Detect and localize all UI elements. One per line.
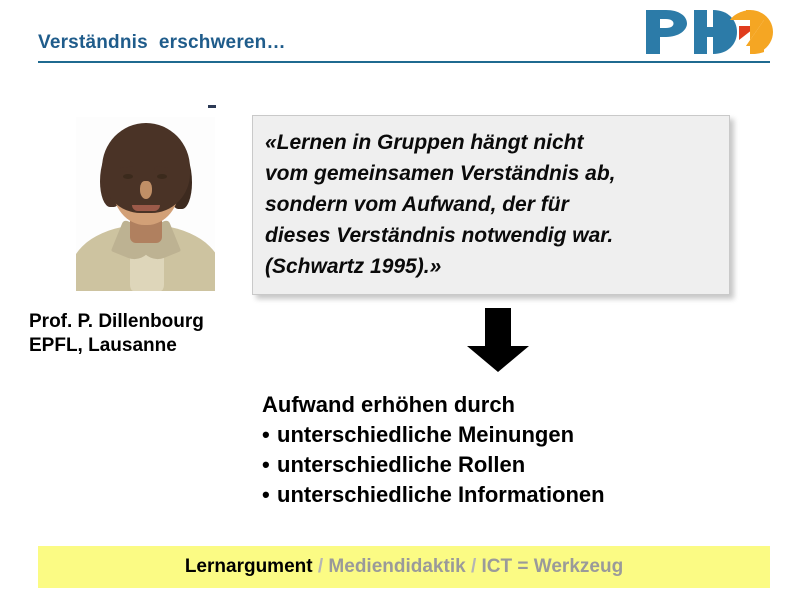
list-item: •unterschiedliche Informationen: [262, 480, 605, 510]
list-item-label: unterschiedliche Meinungen: [277, 422, 574, 447]
footer-bar: Lernargument / Mediendidaktik / ICT = We…: [38, 546, 770, 588]
portrait-nose: [140, 181, 152, 199]
footer-item-ict-werkzeug[interactable]: ICT = Werkzeug: [482, 556, 624, 578]
list-item: •unterschiedliche Meinungen: [262, 420, 605, 450]
arrow-down-glyph: [463, 308, 533, 372]
phz-logo-icon: [642, 6, 774, 58]
bullet-glyph: •: [262, 480, 277, 510]
footer-breadcrumb: Lernargument / Mediendidaktik / ICT = We…: [38, 546, 770, 588]
portrait-hair: [102, 123, 190, 213]
list-item-label: unterschiedliche Informationen: [277, 482, 605, 507]
footer-separator-1: /: [313, 556, 329, 578]
footer-separator-2: /: [466, 556, 482, 578]
speaker-portrait-photo: [76, 117, 215, 291]
portrait-eye-right: [157, 174, 167, 179]
stray-mark: [208, 105, 216, 108]
footer-item-mediendidaktik[interactable]: Mediendidaktik: [328, 556, 465, 578]
list-item-label: unterschiedliche Rollen: [277, 452, 525, 477]
title-divider: [38, 61, 770, 63]
phz-logo: [642, 6, 774, 58]
list-item: •unterschiedliche Rollen: [262, 450, 605, 480]
quote-callout-box: «Lernen in Gruppen hängt nicht vom gemei…: [252, 115, 730, 295]
slide-canvas: Verständnis erschweren…: [0, 0, 800, 600]
bullet-glyph: •: [262, 450, 277, 480]
bullet-glyph: •: [262, 420, 277, 450]
conclusion-heading: Aufwand erhöhen durch: [262, 390, 605, 420]
portrait-mouth: [132, 205, 160, 211]
portrait-eye-left: [123, 174, 133, 179]
conclusion-block: Aufwand erhöhen durch •unterschiedliche …: [262, 390, 605, 510]
footer-item-lernargument[interactable]: Lernargument: [185, 556, 313, 578]
down-arrow-icon: [463, 308, 533, 372]
quote-text: «Lernen in Gruppen hängt nicht vom gemei…: [265, 127, 721, 282]
conclusion-list: •unterschiedliche Meinungen •unterschied…: [262, 420, 605, 510]
speaker-name-caption: Prof. P. Dillenbourg EPFL, Lausanne: [29, 310, 204, 358]
page-title: Verständnis erschweren…: [38, 32, 286, 54]
